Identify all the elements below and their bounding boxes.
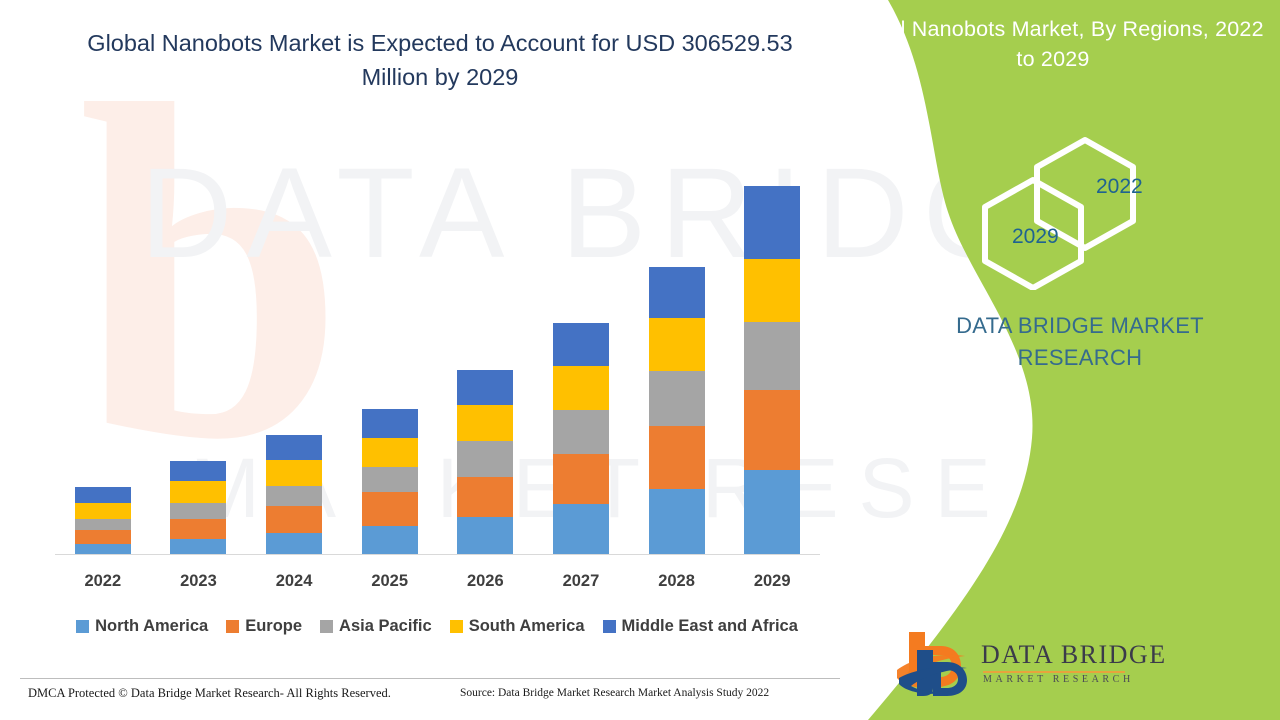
bar-segment <box>649 267 705 318</box>
footer-copyright: DMCA Protected © Data Bridge Market Rese… <box>28 686 391 701</box>
legend-swatch <box>76 620 89 633</box>
bar-segment <box>744 390 800 470</box>
bar-segment <box>457 517 513 554</box>
logo-tagline: MARKET RESEARCH <box>983 674 1134 685</box>
legend-item[interactable]: Asia Pacific <box>320 617 432 636</box>
bar-segment <box>362 492 418 526</box>
bar-segment <box>553 454 609 505</box>
bar-segment <box>457 441 513 477</box>
bar-segment <box>75 487 131 503</box>
bar-segment <box>457 370 513 405</box>
bar-segment <box>457 405 513 440</box>
chart-legend: North AmericaEuropeAsia PacificSouth Ame… <box>52 617 822 636</box>
x-axis-tick-label: 2025 <box>350 572 430 591</box>
data-bridge-logo: DATA BRIDGE MARKET RESEARCH <box>895 628 1125 700</box>
legend-swatch <box>320 620 333 633</box>
legend-label: Europe <box>245 617 302 636</box>
green-side-panel: Global Nanobots Market, By Regions, 2022… <box>820 0 1280 720</box>
hexagon-label-end: 2029 <box>1012 225 1059 249</box>
bar-group <box>266 435 322 554</box>
bar-segment <box>649 489 705 554</box>
bar-segment <box>649 426 705 489</box>
bar-segment <box>362 526 418 554</box>
bar-segment <box>744 322 800 390</box>
bar-segment <box>744 259 800 322</box>
bar-segment <box>170 539 226 554</box>
bar-segment <box>266 435 322 460</box>
panel-title: Global Nanobots Market, By Regions, 2022… <box>840 14 1266 74</box>
bar-segment <box>75 519 131 531</box>
bar-group <box>553 323 609 554</box>
x-axis-tick-label: 2026 <box>445 572 525 591</box>
x-axis-tick-label: 2028 <box>637 572 717 591</box>
bar-segment <box>553 504 609 554</box>
bar-group <box>744 186 800 554</box>
bar-segment <box>457 477 513 517</box>
x-axis-line <box>55 554 820 555</box>
logo-name: DATA BRIDGE <box>981 640 1167 670</box>
x-axis-tick-label: 2022 <box>63 572 143 591</box>
bar-segment <box>553 410 609 453</box>
x-axis-tick-label: 2027 <box>541 572 621 591</box>
bar-group <box>75 487 131 554</box>
bar-segment <box>266 460 322 486</box>
logo-divider <box>983 671 1125 673</box>
bar-group <box>457 370 513 554</box>
bar-segment <box>649 318 705 371</box>
bar-segment <box>649 371 705 426</box>
legend-label: North America <box>95 617 208 636</box>
bar-segment <box>75 544 131 554</box>
bar-segment <box>266 486 322 506</box>
panel-brand-name: DATA BRIDGE MARKET RESEARCH <box>900 310 1260 374</box>
bar-segment <box>744 470 800 554</box>
bar-segment <box>75 530 131 544</box>
legend-swatch <box>450 620 463 633</box>
bar-group <box>649 267 705 554</box>
legend-label: South America <box>469 617 585 636</box>
legend-swatch <box>226 620 239 633</box>
bar-segment <box>170 481 226 502</box>
legend-item[interactable]: South America <box>450 617 585 636</box>
bar-segment <box>170 503 226 519</box>
bar-segment <box>553 323 609 366</box>
bar-group <box>362 409 418 554</box>
bar-segment <box>170 461 226 481</box>
legend-swatch <box>603 620 616 633</box>
legend-label: Middle East and Africa <box>622 617 798 636</box>
bar-segment <box>266 533 322 554</box>
bar-segment <box>362 438 418 467</box>
hexagon-badges: 2022 2029 <box>975 135 1175 290</box>
bar-segment <box>362 467 418 492</box>
legend-item[interactable]: Middle East and Africa <box>603 617 798 636</box>
hexagon-label-start: 2022 <box>1096 175 1143 199</box>
chart-title: Global Nanobots Market is Expected to Ac… <box>60 26 820 94</box>
x-axis-tick-label: 2029 <box>732 572 812 591</box>
hexagon-outlines-icon <box>975 135 1175 290</box>
bar-group <box>170 461 226 554</box>
bar-segment <box>744 186 800 259</box>
legend-item[interactable]: Europe <box>226 617 302 636</box>
footer-divider <box>20 678 840 679</box>
chart-plot-area <box>55 170 820 555</box>
legend-item[interactable]: North America <box>76 617 208 636</box>
x-axis-tick-label: 2023 <box>158 572 238 591</box>
x-axis-tick-label: 2024 <box>254 572 334 591</box>
data-bridge-mark-icon <box>895 628 979 696</box>
legend-label: Asia Pacific <box>339 617 432 636</box>
infographic-root: b DATA BRIDGE MARKET RESEARCH Global Nan… <box>0 0 1280 720</box>
x-axis-labels: 20222023202420252026202720282029 <box>55 572 820 598</box>
bar-segment <box>553 366 609 410</box>
footer-source: Source: Data Bridge Market Research Mark… <box>460 687 769 699</box>
bar-segment <box>75 503 131 519</box>
bar-segment <box>170 519 226 539</box>
bar-segment <box>266 506 322 533</box>
bar-segment <box>362 409 418 438</box>
